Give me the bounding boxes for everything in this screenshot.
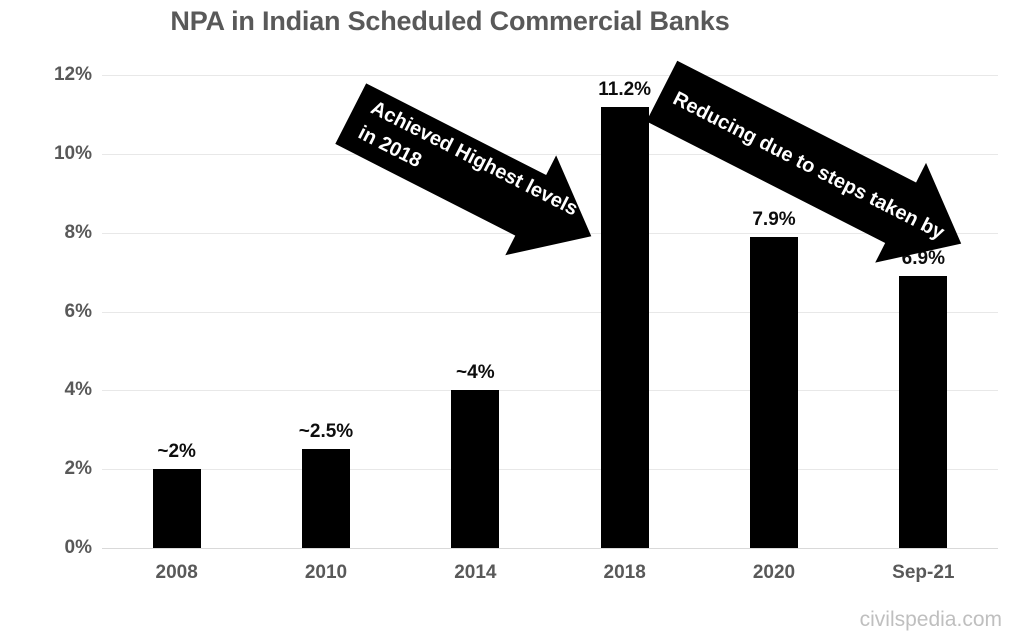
bar-value-label: ~2% — [157, 441, 196, 463]
y-axis: 0%2%4%6%8%10%12% — [0, 75, 92, 548]
x-axis-tick-label: 2008 — [156, 562, 198, 584]
gridline — [102, 469, 998, 470]
bar-chart: NPA in Indian Scheduled Commercial Banks… — [0, 0, 1024, 638]
x-axis-tick-label: Sep-21 — [892, 562, 954, 584]
y-axis-tick-label: 8% — [12, 222, 92, 244]
bar-value-label: ~4% — [456, 362, 495, 384]
bar[interactable] — [750, 237, 798, 548]
bar[interactable] — [153, 469, 201, 548]
bar[interactable] — [302, 449, 350, 548]
bar-value-label: ~2.5% — [299, 421, 353, 443]
gridline — [102, 390, 998, 391]
gridline — [102, 312, 998, 313]
y-axis-tick-label: 12% — [12, 64, 92, 86]
annotation-reducing-arrow[interactable]: Reducing due to steps taken by Govt. — [638, 22, 1024, 252]
x-axis-tick-label: 2020 — [753, 562, 795, 584]
x-axis-tick-label: 2018 — [604, 562, 646, 584]
y-axis-tick-label: 2% — [12, 458, 92, 480]
x-axis-tick-label: 2014 — [454, 562, 496, 584]
x-axis-tick-label: 2010 — [305, 562, 347, 584]
y-axis-tick-label: 10% — [12, 143, 92, 165]
bar[interactable] — [899, 276, 947, 548]
y-axis-tick-label: 0% — [12, 537, 92, 559]
annotation-achieved-highest-arrow[interactable]: Achieved Highest levels in 2018 — [318, 38, 678, 248]
gridline — [102, 548, 998, 549]
bar[interactable] — [451, 390, 499, 548]
y-axis-tick-label: 4% — [12, 379, 92, 401]
watermark: civilspedia.com — [860, 608, 1002, 632]
y-axis-tick-label: 6% — [12, 301, 92, 323]
